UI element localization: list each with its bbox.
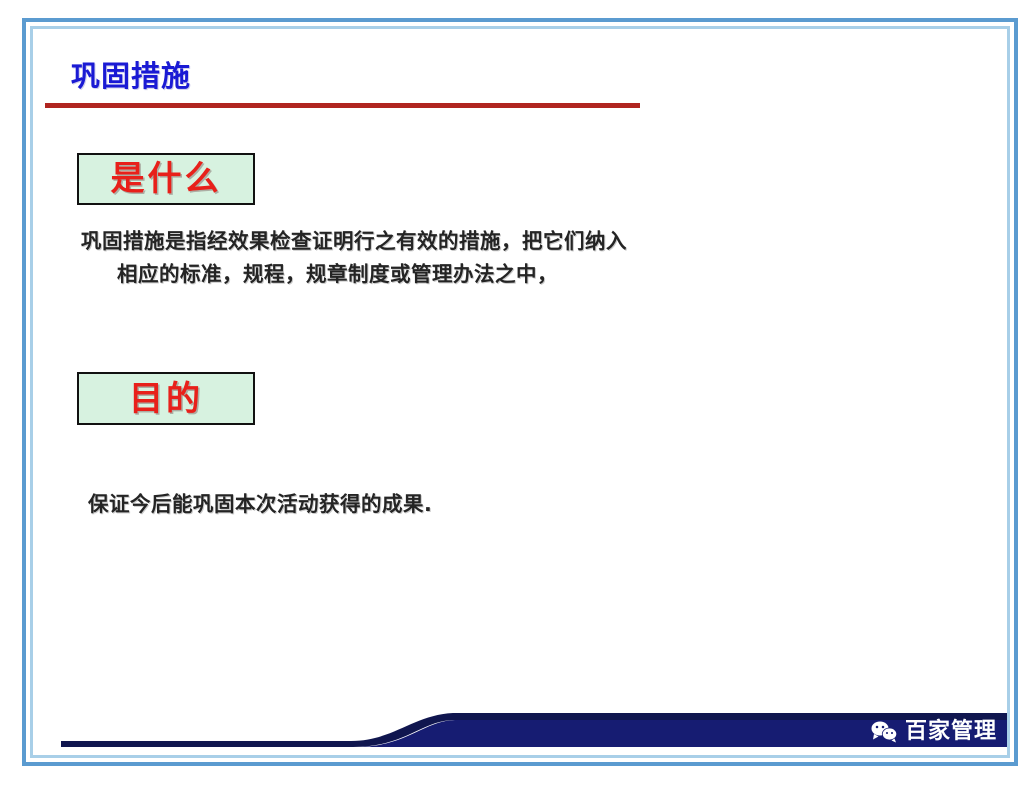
section-label-what-text: 是什么 (111, 162, 222, 196)
slide-canvas: 巩固措施 是什么 巩固措施是指经效果检查证明行之有效的措施，把它们纳入相应的标准… (33, 29, 1007, 755)
wechat-icon (869, 719, 899, 745)
page-title: 巩固措施 (71, 53, 191, 95)
definition-line-1: 巩固措施是指经效果检查证明行之有效的措施，把它们纳入 (81, 229, 627, 253)
goal-paragraph: 保证今后能巩固本次活动获得的成果. (88, 488, 788, 521)
bottom-swoosh-decoration (33, 695, 1007, 755)
definition-line-2: 相应的标准，规程，规章制度或管理办法之中， (81, 258, 781, 291)
section-label-purpose: 目的 (77, 372, 255, 425)
section-label-what: 是什么 (77, 153, 255, 205)
title-underline-rule (45, 103, 640, 108)
section-label-purpose-text: 目的 (129, 382, 203, 416)
brand-name-label: 百家管理 (905, 721, 997, 743)
slide: 巩固措施 是什么 巩固措施是指经效果检查证明行之有效的措施，把它们纳入相应的标准… (0, 0, 1030, 790)
definition-paragraph: 巩固措施是指经效果检查证明行之有效的措施，把它们纳入相应的标准，规程，规章制度或… (81, 225, 781, 291)
swoosh-thin-line (61, 713, 1007, 747)
footer-brand: 百家管理 (869, 715, 1001, 749)
goal-line-1: 保证今后能巩固本次活动获得的成果. (88, 492, 432, 516)
